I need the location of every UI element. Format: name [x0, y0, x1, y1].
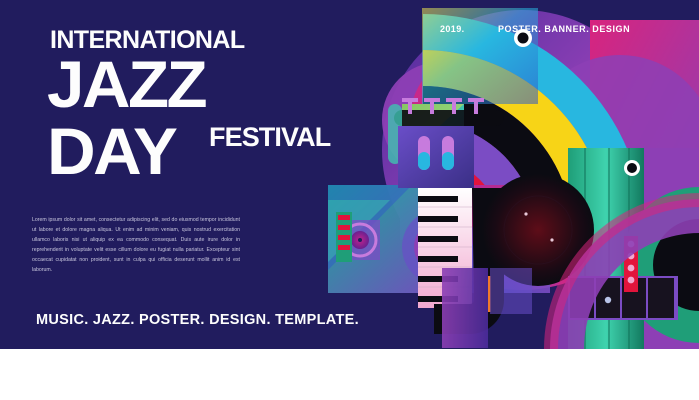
title-sub-festival: FESTIVAL: [209, 124, 330, 151]
tagline-top: POSTER. BANNER. DESIGN: [498, 24, 630, 34]
title-line-jazz: JAZZ: [47, 51, 205, 117]
body-copy: Lorem ipsum dolor sit amet, consectetur …: [32, 216, 240, 276]
year-label: 2019.: [440, 24, 465, 34]
title-line-day: DAY: [47, 118, 175, 184]
poster-text-layer: 2019. POSTER. BANNER. DESIGN INTERNATION…: [0, 0, 699, 349]
jazz-day-poster: 2019. POSTER. BANNER. DESIGN INTERNATION…: [0, 0, 699, 349]
tagline-bottom: MUSIC. JAZZ. POSTER. DESIGN. TEMPLATE.: [36, 312, 359, 328]
